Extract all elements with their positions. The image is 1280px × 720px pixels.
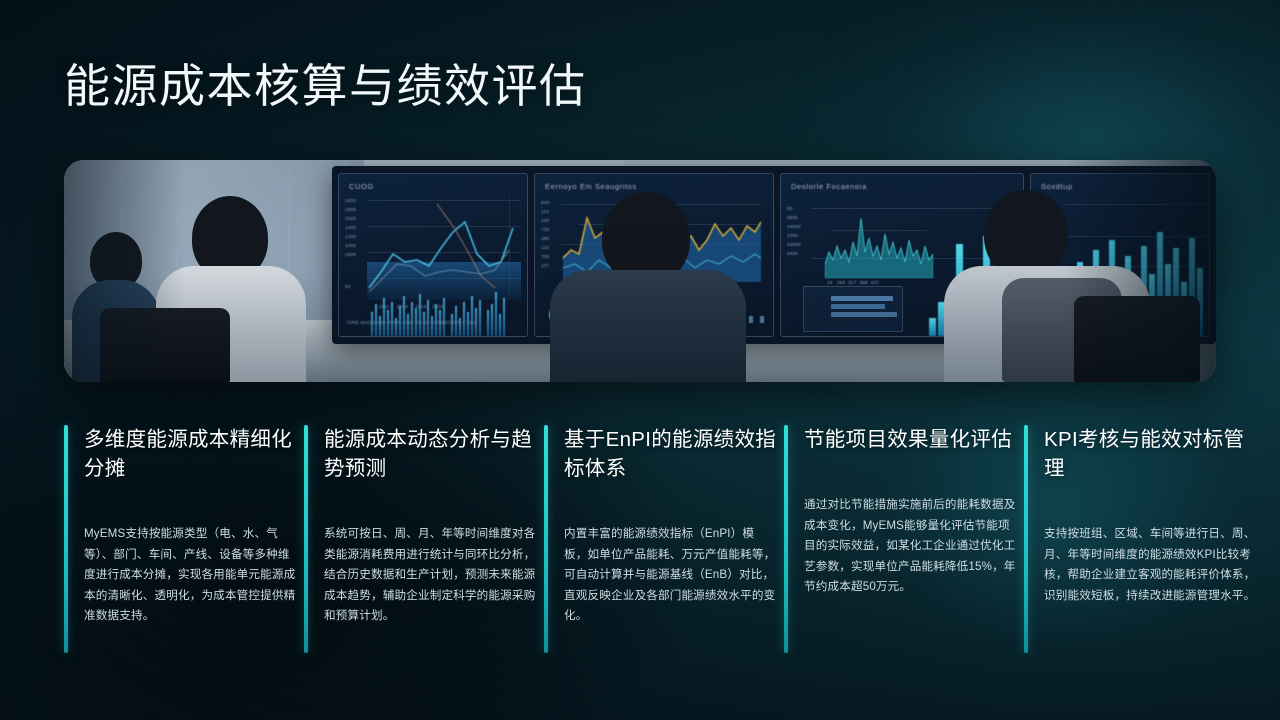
feature-card-enpi-performance-index-system: 基于EnPI的能源绩效指标体系 内置丰富的能源绩效指标（EnPI）模板，如单位产… <box>544 425 784 655</box>
accent-bar-icon <box>304 425 308 653</box>
feature-title: 多维度能源成本精细化分摊 <box>84 425 304 483</box>
feature-description: 系统可按日、周、月、年等时间维度对各类能源消耗费用进行统计与同环比分析，结合历史… <box>324 524 536 627</box>
feature-title: 节能项目效果量化评估 <box>804 425 1024 454</box>
accent-bar-icon <box>784 425 788 653</box>
feature-card-energy-saving-project-evaluation: 节能项目效果量化评估 通过对比节能措施实施前后的能耗数据及成本变化，MyEMS能… <box>784 425 1024 655</box>
hero-right-fade <box>1066 160 1216 382</box>
feature-description: 支持按班组、区域、车间等进行日、周、月、年等时间维度的能源绩效KPI比较考核，帮… <box>1044 524 1256 606</box>
feature-columns: 多维度能源成本精细化分摊 MyEMS支持按能源类型（电、水、气等）、部门、车间、… <box>64 425 1216 655</box>
hero-color-tint <box>64 160 1216 382</box>
accent-bar-icon <box>544 425 548 653</box>
feature-title: KPI考核与能效对标管理 <box>1044 425 1264 483</box>
feature-description: MyEMS支持按能源类型（电、水、气等）、部门、车间、产线、设备等多种维度进行成… <box>84 524 296 627</box>
feature-card-dynamic-analysis-trend-forecast: 能源成本动态分析与趋势预测 系统可按日、周、月、年等时间维度对各类能源消耗费用进… <box>304 425 544 655</box>
feature-title: 基于EnPI的能源绩效指标体系 <box>564 425 784 483</box>
feature-title: 能源成本动态分析与趋势预测 <box>324 425 544 483</box>
hero-left-fade <box>64 160 184 382</box>
feature-description: 通过对比节能措施实施前后的能耗数据及成本变化，MyEMS能够量化评估节能项目的实… <box>804 495 1016 598</box>
accent-bar-icon <box>64 425 68 653</box>
feature-card-kpi-assessment-benchmarking: KPI考核与能效对标管理 支持按班组、区域、车间等进行日、周、月、年等时间维度的… <box>1024 425 1264 655</box>
feature-description: 内置丰富的能源绩效指标（EnPI）模板，如单位产品能耗、万元产值能耗等，可自动计… <box>564 524 776 627</box>
page-title: 能源成本核算与绩效评估 <box>64 50 587 116</box>
accent-bar-icon <box>1024 425 1028 653</box>
hero-banner-image: CUOG 1800160015001400120010001800 50 <box>64 160 1216 382</box>
feature-card-multi-dimension-cost-allocation: 多维度能源成本精细化分摊 MyEMS支持按能源类型（电、水、气等）、部门、车间、… <box>64 425 304 655</box>
